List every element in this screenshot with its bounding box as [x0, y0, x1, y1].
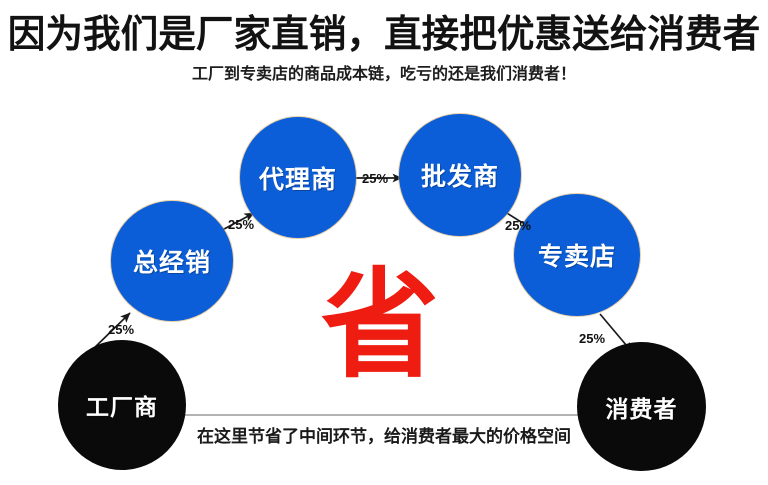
save-character: 省 [300, 266, 460, 384]
banner-header: 因为我们是厂家直销，直接把优惠送给消费者 工厂到专卖店的商品成本链，吃亏的还是我… [0, 0, 768, 100]
page-title: 因为我们是厂家直销，直接把优惠送给消费者 [4, 12, 764, 58]
node-agent-label: 代理商 [259, 160, 337, 196]
edge-label-factory-distributor: 25% [108, 322, 134, 337]
edge-label-distributor-agent: 25% [228, 217, 254, 232]
node-distributor[interactable]: 总经销 [111, 201, 233, 321]
node-agent[interactable]: 代理商 [240, 117, 356, 238]
node-store-label: 专卖店 [538, 237, 616, 273]
node-factory-label: 工厂商 [86, 388, 158, 422]
promo-banner: 因为我们是厂家直销，直接把优惠送给消费者 工厂到专卖店的商品成本链，吃亏的还是我… [0, 0, 768, 485]
footer-caption: 在这里节省了中间环节，给消费者最大的价格空间 [0, 425, 768, 449]
node-consumer-label: 消费者 [606, 390, 678, 424]
supply-chain-diagram: 工厂商 总经销 代理商 批发商 专卖店 消费者 25% 25% 25% 25% … [0, 100, 768, 485]
node-wholesaler-label: 批发商 [421, 157, 499, 193]
node-factory[interactable]: 工厂商 [58, 340, 186, 470]
page-subtitle: 工厂到专卖店的商品成本链，吃亏的还是我们消费者！ [0, 64, 768, 86]
node-wholesaler[interactable]: 批发商 [399, 114, 521, 236]
node-distributor-label: 总经销 [133, 243, 211, 279]
edge-label-wholesaler-store: 25% [505, 218, 531, 233]
edge-label-agent-wholesaler: 25% [362, 171, 388, 186]
node-store[interactable]: 专卖店 [514, 194, 640, 316]
node-consumer[interactable]: 消费者 [577, 342, 706, 471]
edge-label-store-consumer: 25% [579, 331, 605, 346]
